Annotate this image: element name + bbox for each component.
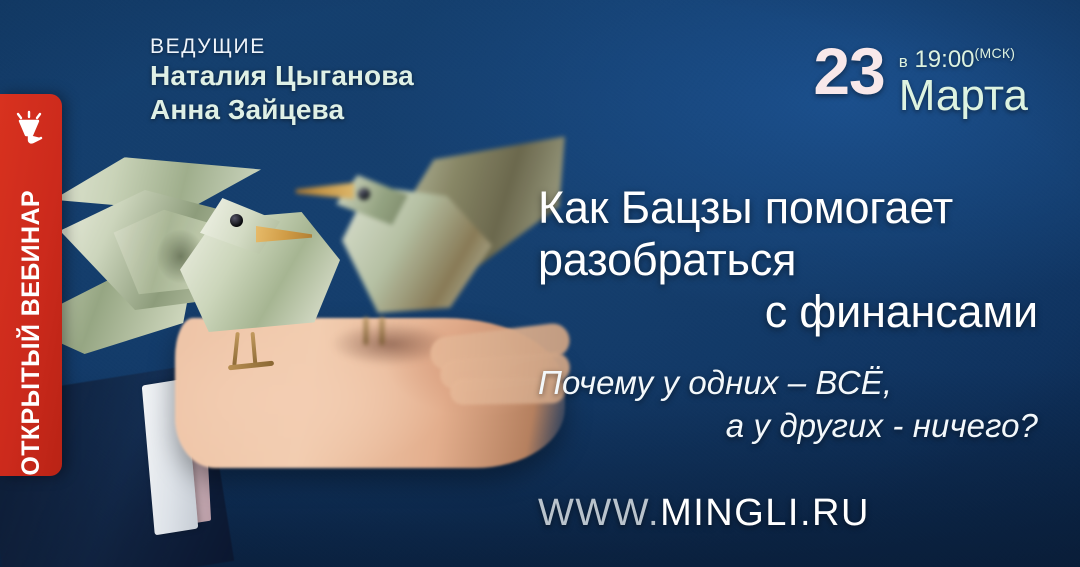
hosts-label: ВЕДУЩИЕ	[150, 34, 414, 59]
hosts-block: ВЕДУЩИЕ Наталия Цыганова Анна Зайцева	[150, 34, 414, 128]
date-details: в 19:00(МСК) Марта	[899, 40, 1028, 119]
megaphone-icon	[11, 108, 51, 148]
ribbon-label: ОТКРЫТЫЙ ВЕБИНАР	[17, 174, 46, 476]
date-time: в 19:00(МСК)	[899, 46, 1028, 72]
ribbon-text-wrap: ОТКРЫТЫЙ ВЕБИНАР	[0, 146, 62, 476]
url-prefix: WWW.	[538, 492, 660, 534]
origami-bird-eye	[230, 214, 243, 227]
headline: Как Бацзы помогает разобраться с финанса…	[538, 182, 1038, 339]
origami-bird-legs	[228, 322, 274, 366]
origami-bird-eye	[358, 188, 370, 200]
url-domain: MINGLI.RU	[660, 492, 870, 534]
time-prefix: в	[899, 52, 908, 71]
time-timezone: (МСК)	[975, 45, 1016, 61]
webinar-banner: ОТКРЫТЫЙ ВЕБИНАР ВЕДУЩИЕ Наталия Цыганов…	[0, 0, 1080, 567]
host-name-2: Анна Зайцева	[150, 93, 414, 127]
time-value: 19:00	[914, 46, 974, 73]
website-url[interactable]: WWW.MINGLI.RU	[538, 492, 870, 535]
subtitle: Почему у одних – ВСЁ, а у других - ничег…	[538, 362, 1038, 448]
subtitle-line-2: а у других - ничего?	[538, 405, 1038, 448]
origami-bird-legs	[358, 305, 398, 345]
subtitle-line-1: Почему у одних – ВСЁ,	[538, 364, 892, 401]
date-block: 23 в 19:00(МСК) Марта	[813, 40, 1028, 119]
headline-line-1: Как Бацзы помогает	[538, 182, 953, 233]
date-day: 23	[813, 40, 884, 103]
headline-line-2: разобраться	[538, 234, 796, 285]
host-name-1: Наталия Цыганова	[150, 59, 414, 93]
open-webinar-ribbon[interactable]: ОТКРЫТЫЙ ВЕБИНАР	[0, 94, 62, 476]
date-month: Марта	[899, 74, 1028, 119]
headline-line-3: с финансами	[538, 286, 1038, 338]
origami-bird-foreground	[60, 150, 340, 400]
